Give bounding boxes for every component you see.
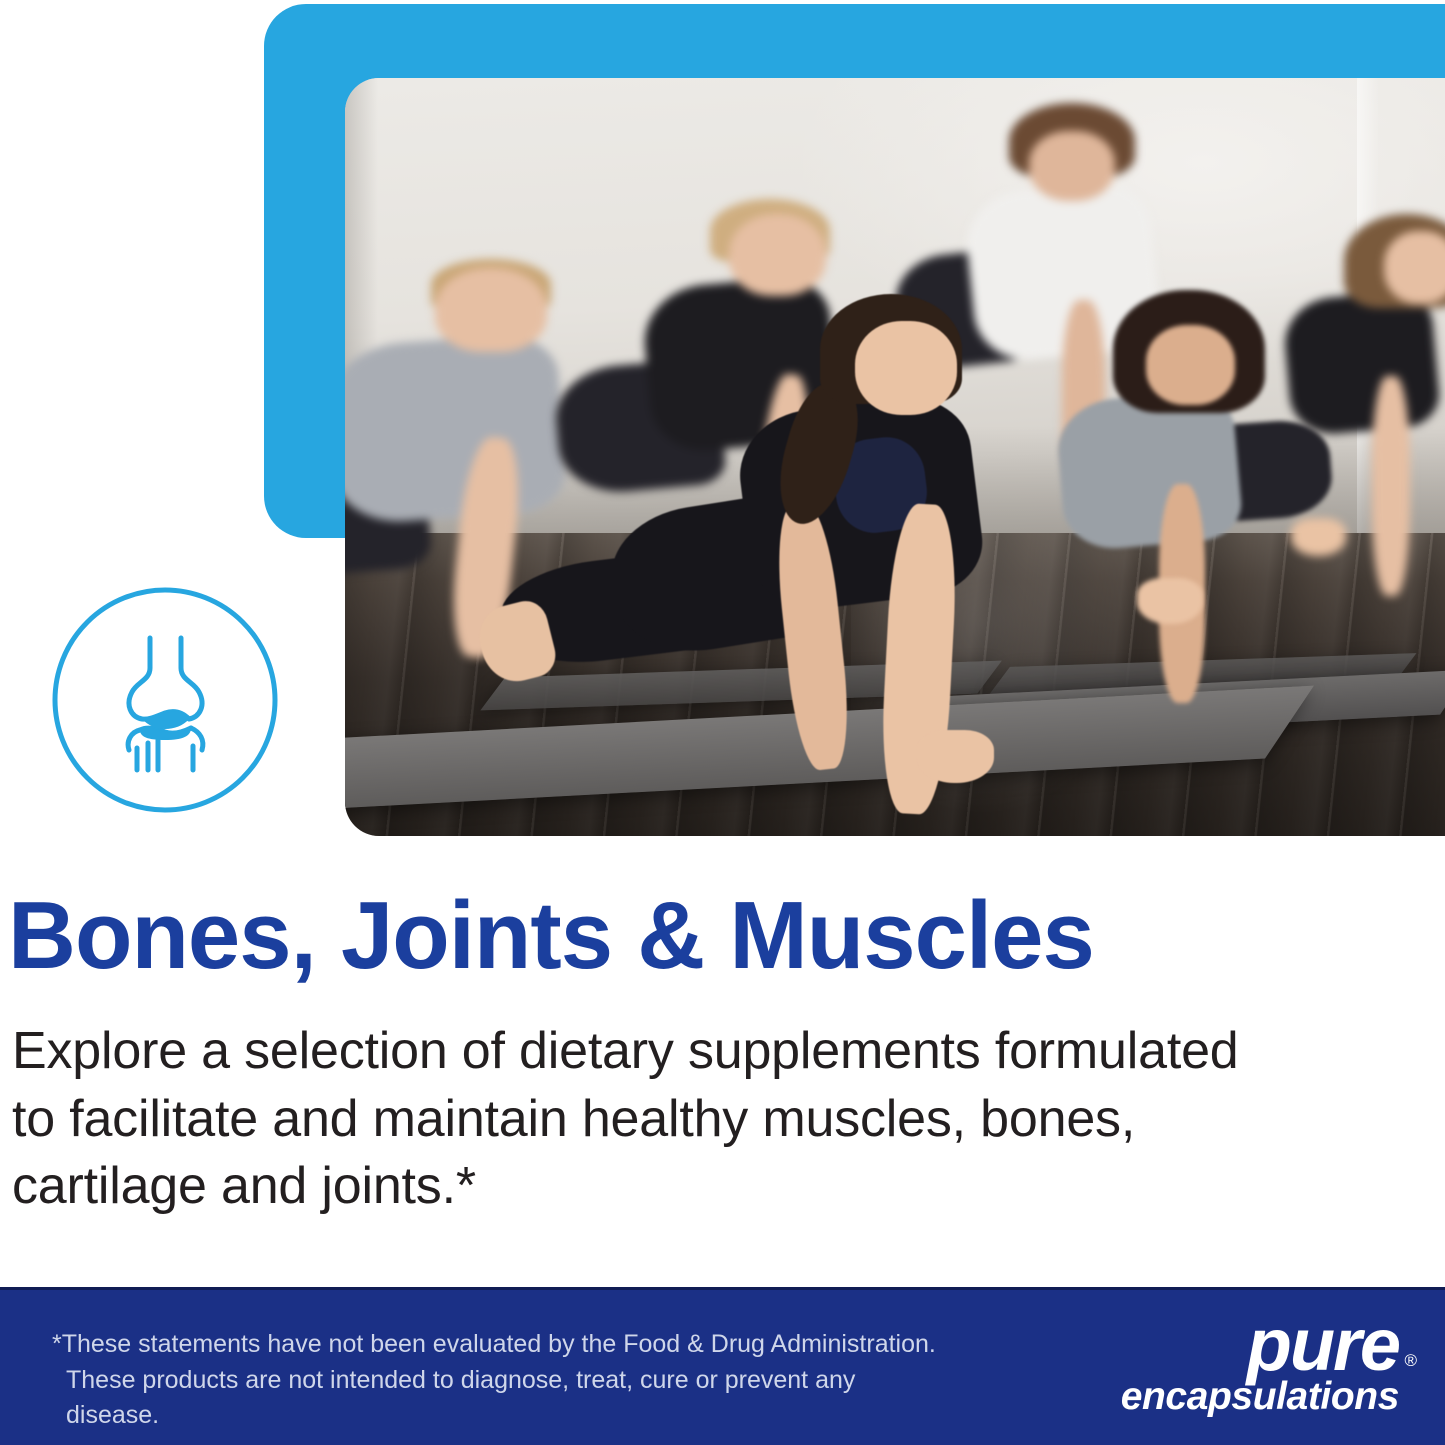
footer-top-rule [0, 1287, 1445, 1290]
person-plank-foreground [653, 283, 1159, 836]
description-line-3: cartilage and joints.* [12, 1153, 1362, 1221]
hand [917, 730, 994, 783]
logo-secondary-text: encapsulations [1121, 1375, 1399, 1418]
hand [1291, 518, 1346, 556]
marketing-banner: Bones, Joints & Muscles Explore a select… [0, 0, 1445, 1445]
bone-joint-icon [45, 580, 285, 820]
logo-secondary-row: encapsulations ® [1089, 1377, 1399, 1416]
disclaimer-line-2: These products are not intended to diagn… [52, 1363, 952, 1434]
description-line-1: Explore a selection of dietary supplemen… [12, 1018, 1362, 1086]
fda-disclaimer: *These statements have not been evaluate… [52, 1327, 952, 1434]
hand [1137, 578, 1203, 623]
hero-section [0, 0, 1445, 860]
description-line-2: to facilitate and maintain healthy muscl… [12, 1086, 1362, 1154]
footer-bar: *These statements have not been evaluate… [0, 1287, 1445, 1445]
disclaimer-line-1: *These statements have not been evaluate… [52, 1327, 952, 1363]
pure-encapsulations-logo: pure encapsulations ® [1089, 1311, 1399, 1423]
registered-trademark-icon: ® [1404, 1351, 1417, 1371]
logo-primary-text: pure [1089, 1311, 1399, 1379]
page-title: Bones, Joints & Muscles [8, 888, 1360, 984]
hero-photo [345, 78, 1445, 836]
description-text: Explore a selection of dietary supplemen… [12, 1018, 1362, 1221]
